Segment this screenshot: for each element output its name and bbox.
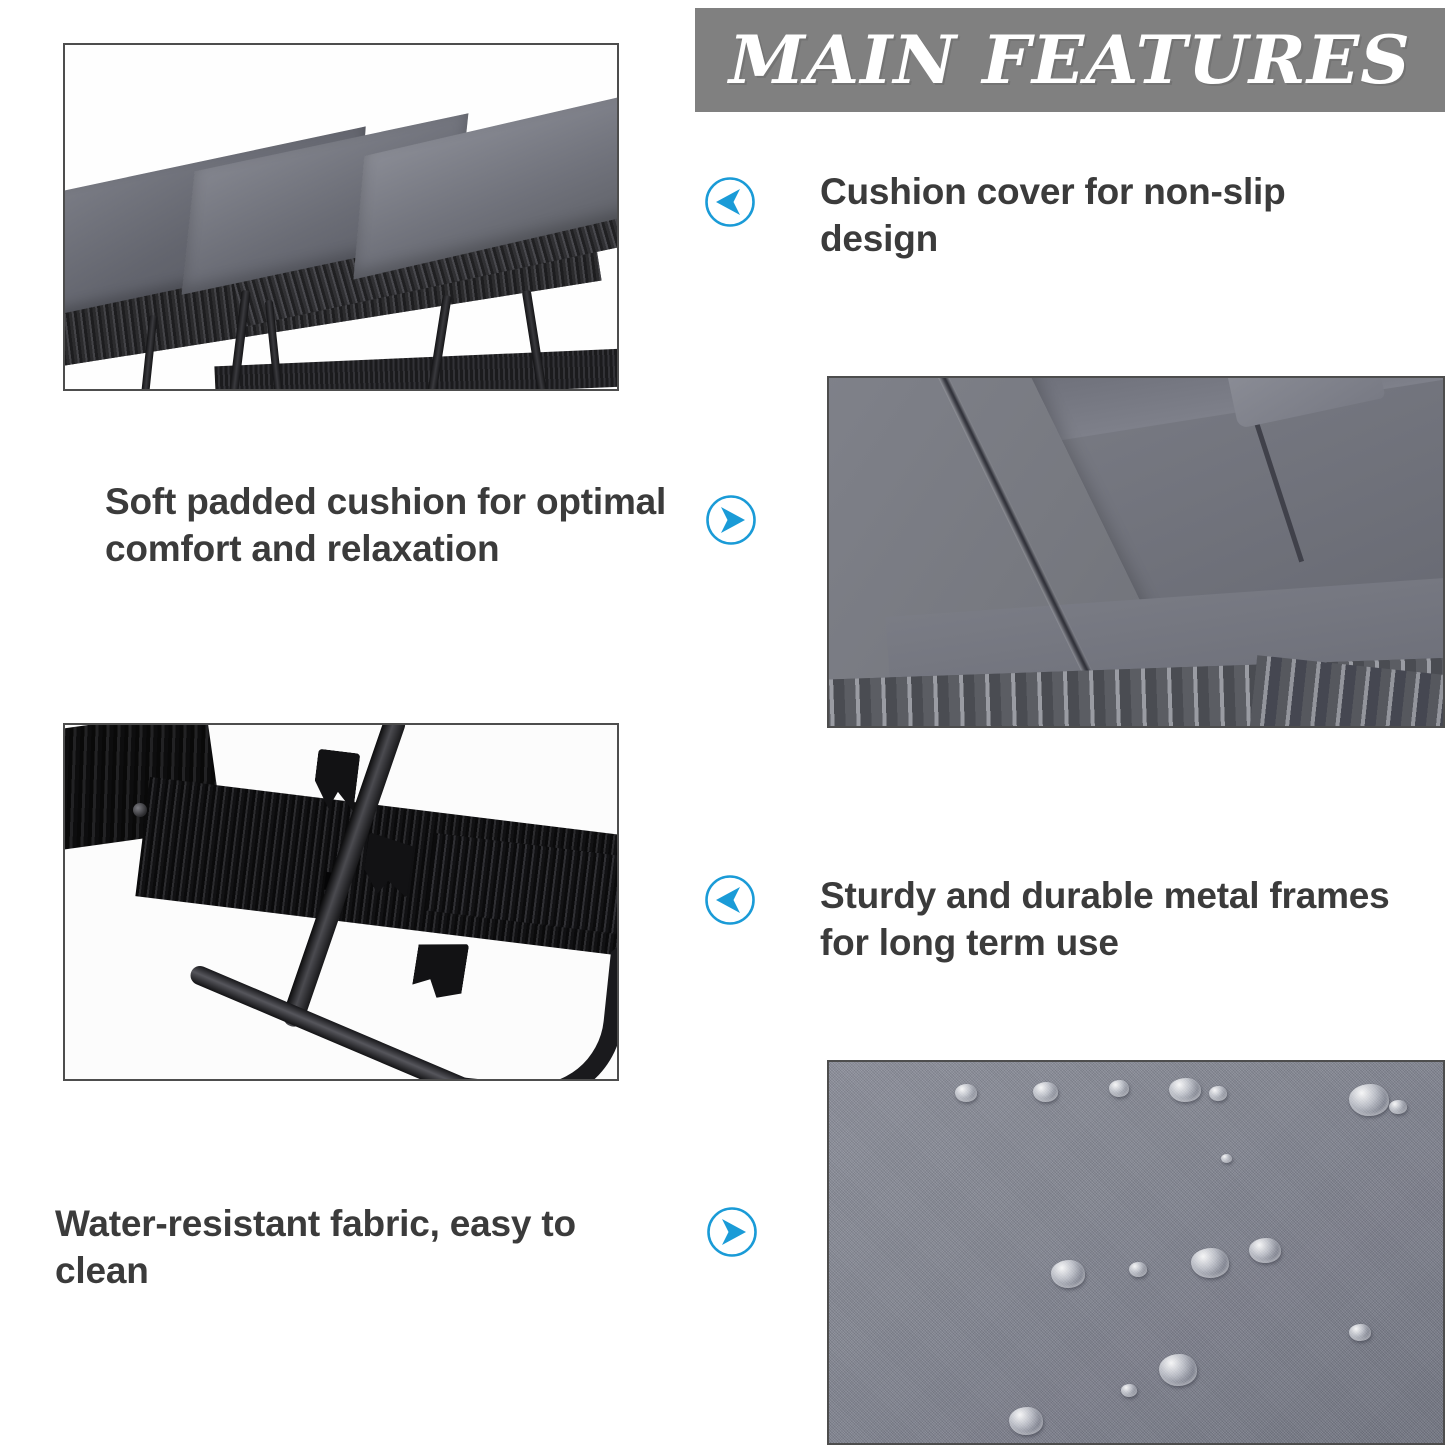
water-droplet bbox=[1129, 1262, 1147, 1277]
water-droplet bbox=[1389, 1100, 1407, 1114]
product-photo-lounger bbox=[63, 43, 619, 391]
metal-tube-curve bbox=[426, 916, 619, 1081]
water-droplet bbox=[1169, 1078, 1201, 1102]
page-title: MAIN FEATURES bbox=[729, 21, 1411, 99]
fabric-weave-background bbox=[829, 1062, 1443, 1443]
water-droplet bbox=[1159, 1354, 1197, 1386]
infographic-page: MAIN FEATURES Cushion cover for non-slip… bbox=[0, 0, 1445, 1445]
photo-cushion-scene bbox=[829, 378, 1443, 726]
water-droplet bbox=[1033, 1082, 1058, 1102]
feature-text-metal-frames: Sturdy and durable metal frames for long… bbox=[820, 872, 1420, 967]
product-photo-cushion-closeup bbox=[827, 376, 1445, 728]
photo-fabric-scene bbox=[829, 1062, 1443, 1443]
arrow-right-circle-icon bbox=[706, 1206, 758, 1258]
water-droplet bbox=[1209, 1086, 1227, 1101]
main-features-banner: MAIN FEATURES bbox=[695, 8, 1445, 112]
frame-bolt bbox=[133, 803, 147, 817]
water-droplet bbox=[1121, 1384, 1137, 1397]
feature-text-cushion-cover: Cushion cover for non-slip design bbox=[820, 168, 1400, 263]
water-droplet bbox=[1349, 1084, 1389, 1116]
product-photo-water-resistant-fabric bbox=[827, 1060, 1445, 1445]
water-droplet bbox=[955, 1084, 977, 1102]
photo-lounger-scene bbox=[65, 45, 617, 389]
water-droplet bbox=[1221, 1154, 1232, 1163]
photo-frame-scene bbox=[65, 725, 617, 1079]
arrow-right-circle-icon bbox=[705, 494, 757, 546]
water-droplet bbox=[1009, 1407, 1043, 1435]
arrow-left-circle-icon bbox=[704, 176, 756, 228]
water-droplet bbox=[1191, 1248, 1229, 1278]
feature-text-water-resistant: Water-resistant fabric, easy to clean bbox=[55, 1200, 615, 1295]
feature-text-soft-padded-cushion: Soft padded cushion for optimal comfort … bbox=[105, 478, 695, 573]
product-photo-metal-frame bbox=[63, 723, 619, 1081]
water-droplet bbox=[1249, 1238, 1281, 1263]
water-droplet bbox=[1109, 1080, 1129, 1097]
water-droplet bbox=[1051, 1260, 1085, 1288]
water-droplet bbox=[1349, 1324, 1371, 1341]
arrow-left-circle-icon bbox=[704, 874, 756, 926]
